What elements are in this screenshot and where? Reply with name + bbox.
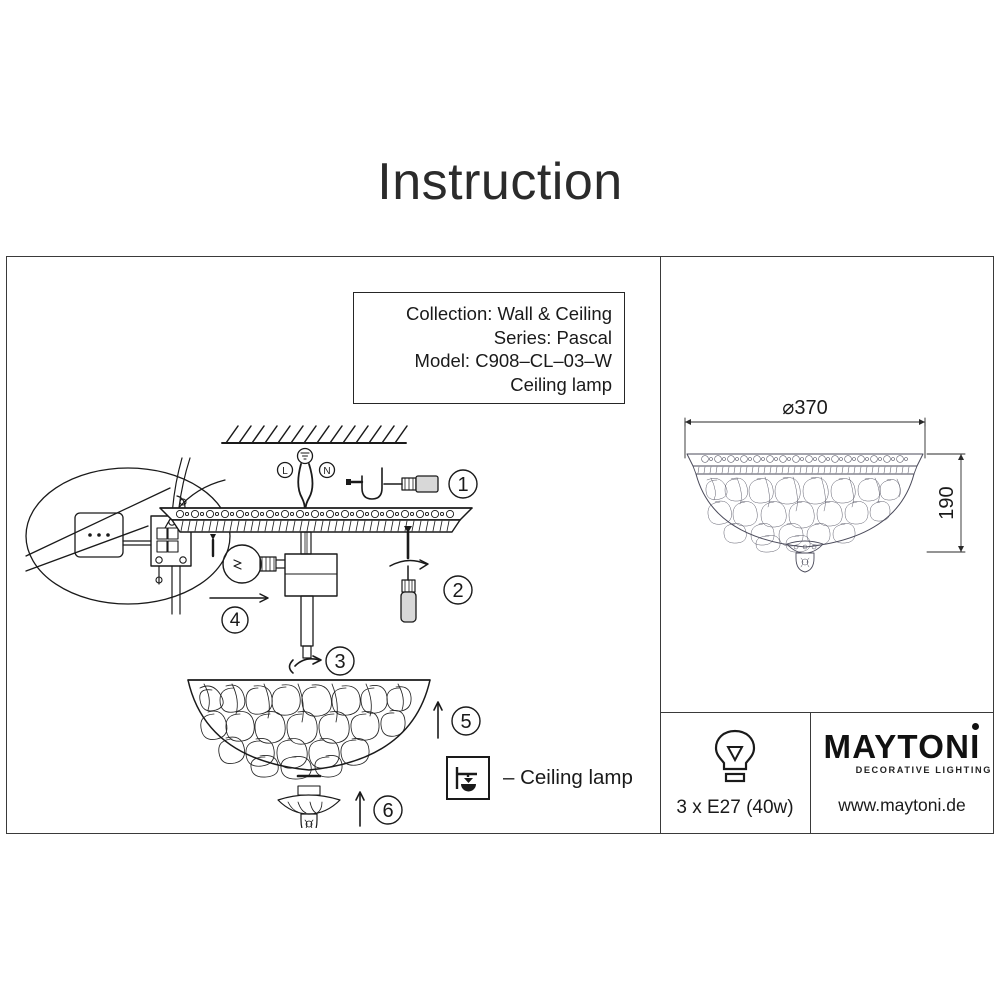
svg-text:6: 6	[382, 800, 393, 822]
ceiling-lamp-icon	[446, 756, 490, 800]
brand-tagline: DECORATIVE LIGHTING	[856, 765, 992, 775]
legend: – Ceiling lamp	[446, 756, 633, 800]
lamp-bowl	[696, 474, 914, 552]
bulb-icon	[223, 545, 261, 583]
svg-text:1: 1	[457, 474, 468, 496]
step-2-group: 2	[390, 526, 472, 622]
step-1-group: 1	[346, 468, 477, 499]
info-collection: Collection: Wall & Ceiling	[364, 302, 612, 326]
page-title: Instruction	[0, 152, 1000, 212]
bulb-spec-cell: 3 x E27 (40w)	[660, 712, 810, 834]
step-5-group: 5	[434, 702, 480, 738]
step-6-group: 6	[356, 792, 402, 826]
ceiling-canopy	[160, 508, 472, 532]
instruction-sheet: Instruction Collection: Wall & Ceiling S…	[0, 0, 1000, 1000]
info-type: Ceiling lamp	[364, 373, 612, 397]
product-drawing: ⌀370 190	[665, 392, 995, 592]
diameter-label: ⌀370	[782, 397, 827, 419]
socket-housing	[285, 532, 337, 658]
step-4-group: 4	[210, 534, 285, 633]
bowl-shade	[188, 680, 430, 779]
info-series: Series: Pascal	[364, 326, 612, 350]
finial	[278, 786, 340, 828]
svg-text:L: L	[282, 466, 288, 477]
brand-name-text: MAYTONI	[824, 728, 981, 765]
svg-text:2: 2	[452, 580, 463, 602]
ceiling-hatch-strokes	[226, 426, 407, 443]
width-dimension	[685, 418, 925, 458]
product-info-box: Collection: Wall & Ceiling Series: Pasca…	[353, 292, 625, 404]
legend-label: – Ceiling lamp	[503, 766, 633, 790]
info-model: Model: C908–CL–03–W	[364, 349, 612, 373]
svg-text:3: 3	[334, 651, 345, 673]
brand-cell: MAYTONI DECORATIVE LIGHTING www.maytoni.…	[810, 712, 994, 834]
step-3-group: 3	[290, 647, 355, 675]
svg-text:5: 5	[460, 711, 471, 733]
brand-url: www.maytoni.de	[838, 795, 965, 816]
svg-text:N: N	[323, 466, 330, 477]
light-bulb-icon	[709, 727, 761, 789]
height-label: 190	[936, 486, 958, 519]
mounting-detail-circle	[26, 458, 230, 614]
brand-name: MAYTONI	[824, 730, 981, 763]
bulb-spec-label: 3 x E27 (40w)	[676, 797, 793, 819]
svg-text:4: 4	[230, 610, 241, 631]
lamp-rim	[687, 454, 923, 474]
